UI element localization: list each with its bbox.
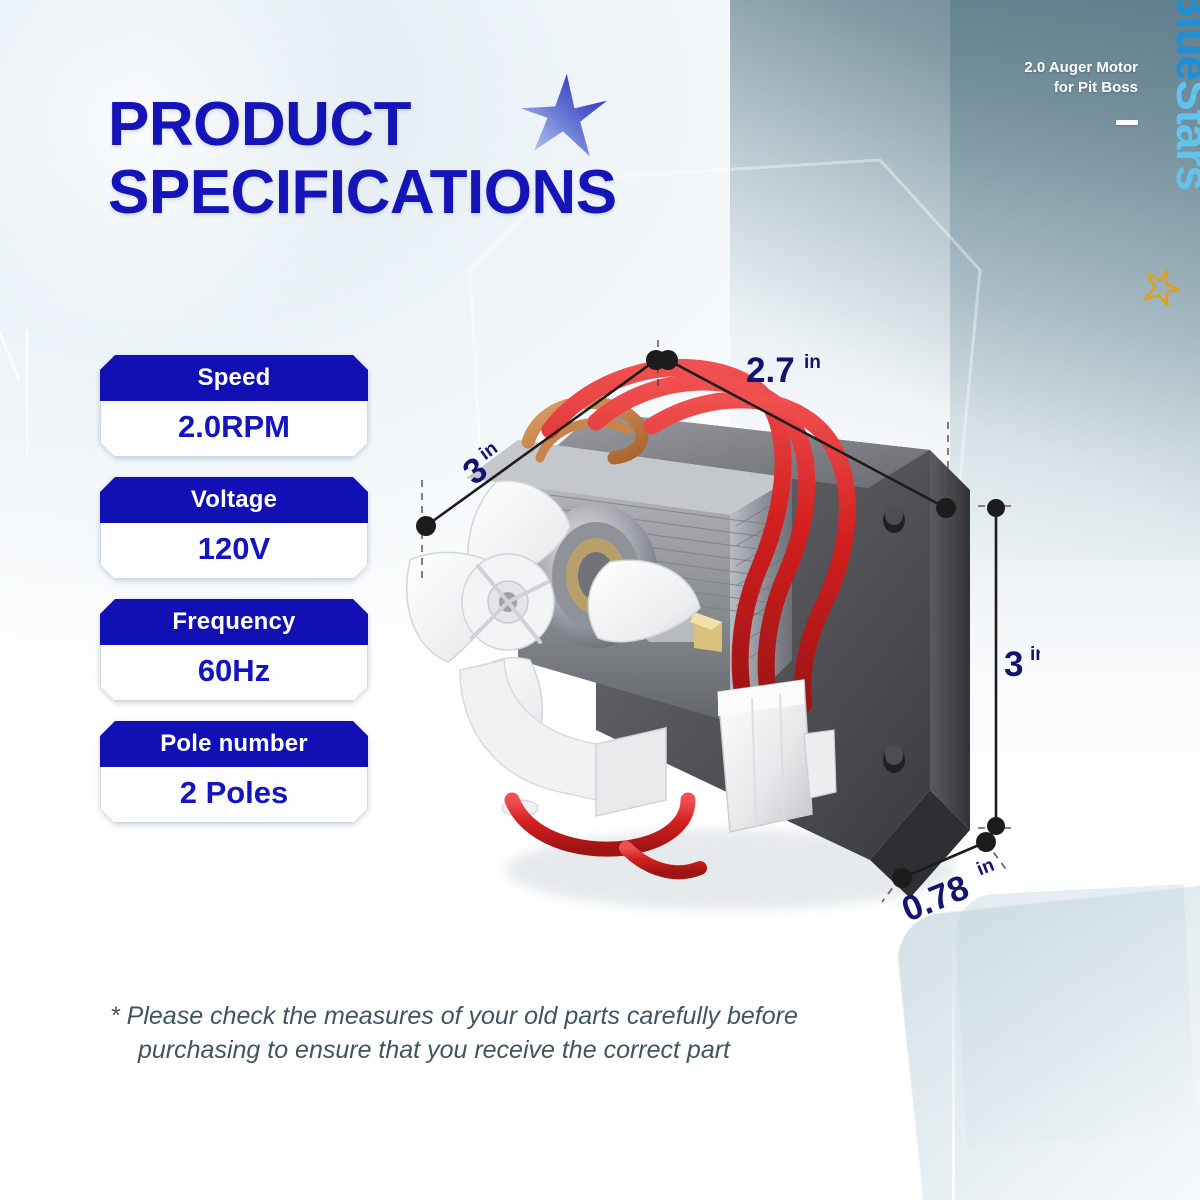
spec-card-pole-number: Pole number 2 Poles <box>100 721 368 823</box>
background-accent-line-bottom <box>952 940 955 1200</box>
background-accent-line-left-2 <box>26 330 28 540</box>
gold-star-icon <box>1142 267 1182 307</box>
corner-product-note: 2.0 Auger Motor for Pit Boss <box>1024 58 1138 99</box>
spec-card-frequency: Frequency 60Hz <box>100 599 368 701</box>
star-icon <box>513 68 609 164</box>
spec-value-speed: 2.0RPM <box>100 401 368 457</box>
spec-label-speed: Speed <box>100 355 368 401</box>
spec-list: Speed 2.0RPM Voltage 120V Frequency 60Hz… <box>100 355 368 843</box>
dimension-unit-width: in <box>804 352 821 373</box>
brand-name-blue: Blue <box>1167 0 1200 80</box>
spec-value-frequency: 60Hz <box>100 645 368 701</box>
corner-note-line2: for Pit Boss <box>1024 78 1138 98</box>
product-image-auger-motor: 3 in 2.7 in 3 in 0.78 in <box>400 330 1040 950</box>
spec-card-voltage: Voltage 120V <box>100 477 368 579</box>
brand-name-stars: Stars <box>1167 80 1200 190</box>
spec-label-frequency: Frequency <box>100 599 368 645</box>
dimension-label-width: 2.7 <box>746 351 795 390</box>
spec-value-pole-number: 2 Poles <box>100 767 368 823</box>
spec-card-speed: Speed 2.0RPM <box>100 355 368 457</box>
brand-logo: BlueStars <box>1170 0 1200 190</box>
dimension-unit-thickness: in <box>974 855 998 881</box>
dash-divider-icon <box>1116 120 1138 125</box>
footer-disclaimer: * Please check the measures of your old … <box>110 1000 980 1068</box>
page-title-line2: SPECIFICATIONS <box>108 164 617 222</box>
dimension-unit-height: in <box>1030 644 1040 665</box>
product-illustration: 3 in 2.7 in 3 in 0.78 in <box>400 330 1040 950</box>
footer-line2: purchasing to ensure that you receive th… <box>110 1034 980 1068</box>
spec-label-voltage: Voltage <box>100 477 368 523</box>
infographic-canvas: PRODUCT SPECIFICATIONS 2.0 Auger Motor f… <box>0 0 1200 1200</box>
corner-note-line1: 2.0 Auger Motor <box>1024 58 1138 78</box>
footer-line1: * Please check the measures of your old … <box>110 1000 980 1034</box>
dimension-label-height: 3 <box>1004 645 1023 684</box>
spec-label-pole-number: Pole number <box>100 721 368 767</box>
spec-value-voltage: 120V <box>100 523 368 579</box>
page-title: PRODUCT SPECIFICATIONS <box>108 96 617 223</box>
